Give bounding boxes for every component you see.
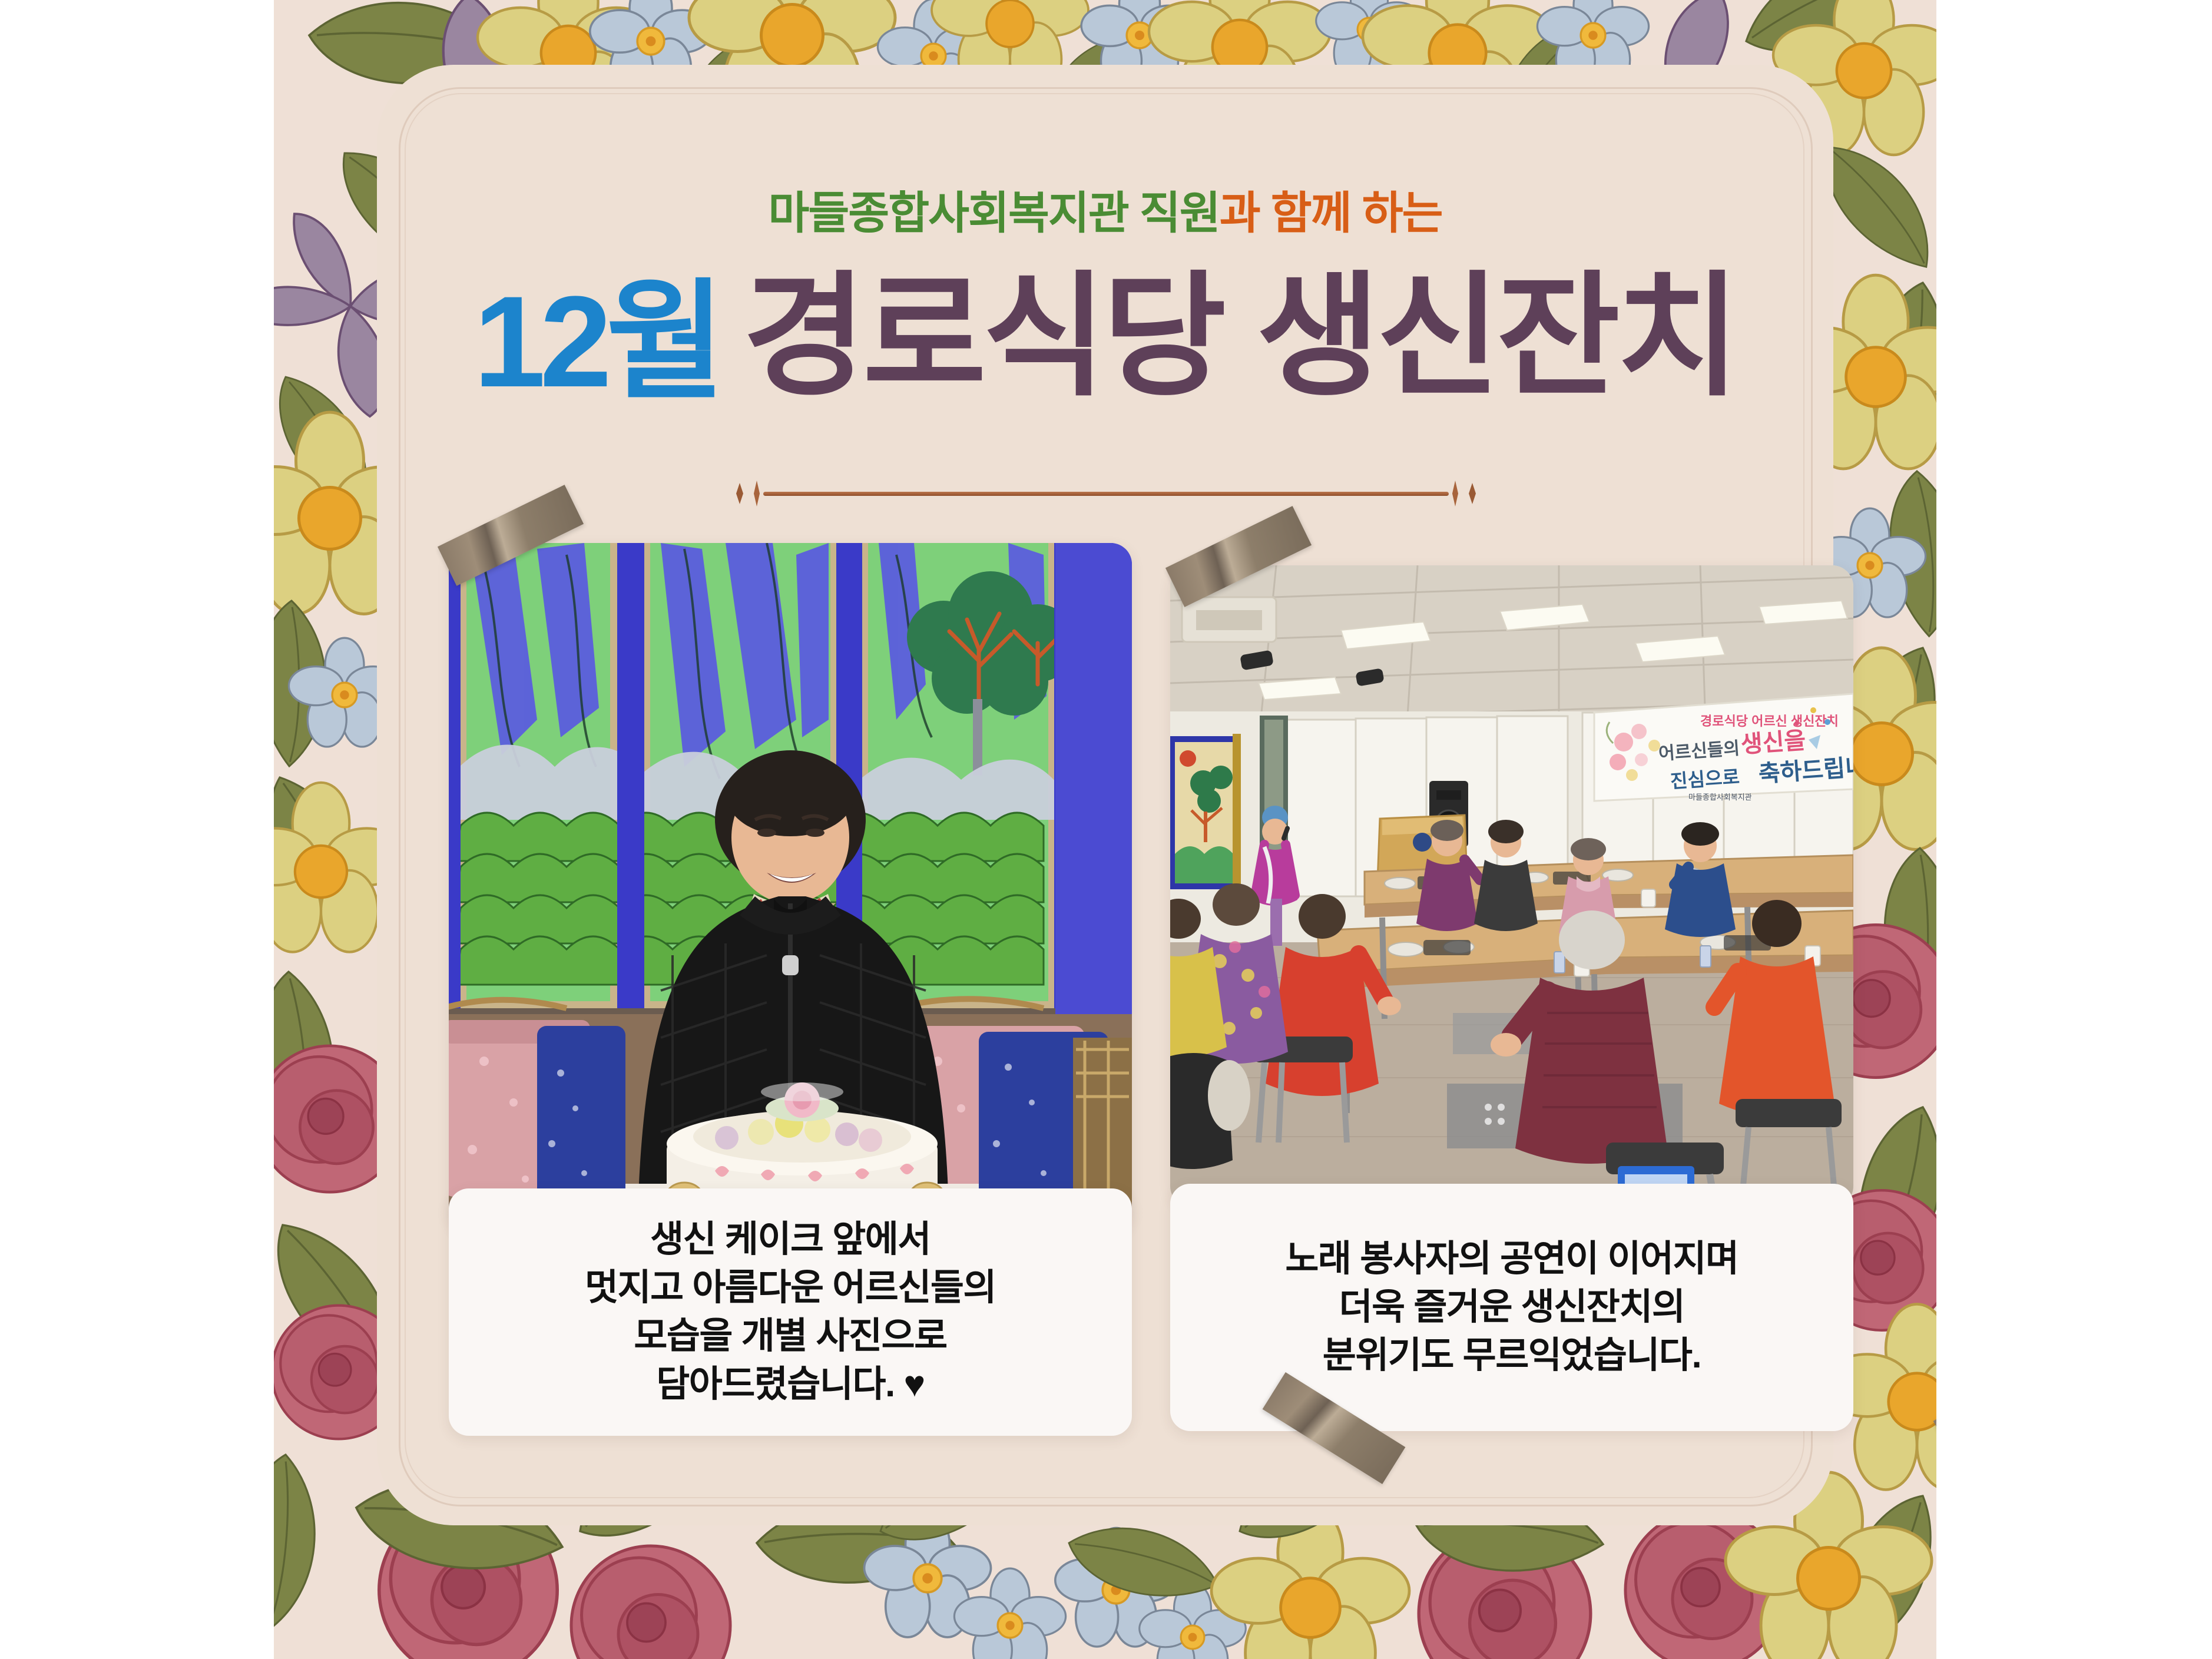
banner-org-text: 마들종합사회복지관 — [1688, 793, 1752, 802]
right-photo-illustration: 경로식당 어르신 생신잔치 어르신들의 생신을 진심으로 축하드립니 마들종합사… — [1170, 565, 1853, 1207]
divider-bar — [763, 492, 1449, 496]
poster-subtitle: 마들종합사회복지관 직원과 함께 하는 — [274, 177, 1936, 241]
washi-tape-bottom-right — [1933, 1350, 1936, 1459]
ornamental-divider — [735, 482, 1477, 505]
left-photo-illustration — [449, 543, 1132, 1232]
banner-title-text: 경로식당 어르신 생신잔치 — [1700, 714, 1839, 728]
photo-card-left[interactable] — [449, 543, 1132, 1232]
banner-highlight-text: 생신을 — [1740, 727, 1807, 758]
subtitle-suffix: 과 함께 하는 — [1220, 188, 1442, 239]
photo-card-right[interactable]: 경로식당 어르신 생신잔치 어르신들의 생신을 진심으로 축하드립니 마들종합사… — [1170, 565, 1853, 1207]
caption-text-right: 노래 봉사자의 공연이 이어지며 더욱 즐거운 생신잔치의 분위기도 무르익었습… — [1285, 1235, 1738, 1379]
dining-hall-performance-photo: 경로식당 어르신 생신잔치 어르신들의 생신을 진심으로 축하드립니 마들종합사… — [1170, 565, 1853, 1207]
title-month: 12월 — [473, 269, 719, 414]
poster-background: 마들종합사회복지관 직원과 함께 하는 12월경로식당 생신잔치 — [274, 0, 1936, 1659]
page-title: 12월경로식당 생신잔치 — [274, 270, 1936, 406]
title-event-name: 경로식당 생신잔치 — [743, 262, 1736, 412]
subtitle-organization: 마들종합사회복지관 직원 — [768, 188, 1219, 239]
poster-canvas: 마들종합사회복지관 직원과 함께 하는 12월경로식당 생신잔치 — [0, 0, 2212, 1659]
caption-text-left: 생신 케이크 앞에서 멋지고 아름다운 어르신들의 모습을 개별 사진으로 담아… — [585, 1216, 996, 1408]
divider-tip-right-icon — [1469, 483, 1476, 504]
divider-tip-left-icon — [736, 483, 743, 504]
birthday-cake-portrait-photo — [449, 543, 1132, 1232]
caption-box-left: 생신 케이크 앞에서 멋지고 아름다운 어르신들의 모습을 개별 사진으로 담아… — [449, 1188, 1132, 1436]
